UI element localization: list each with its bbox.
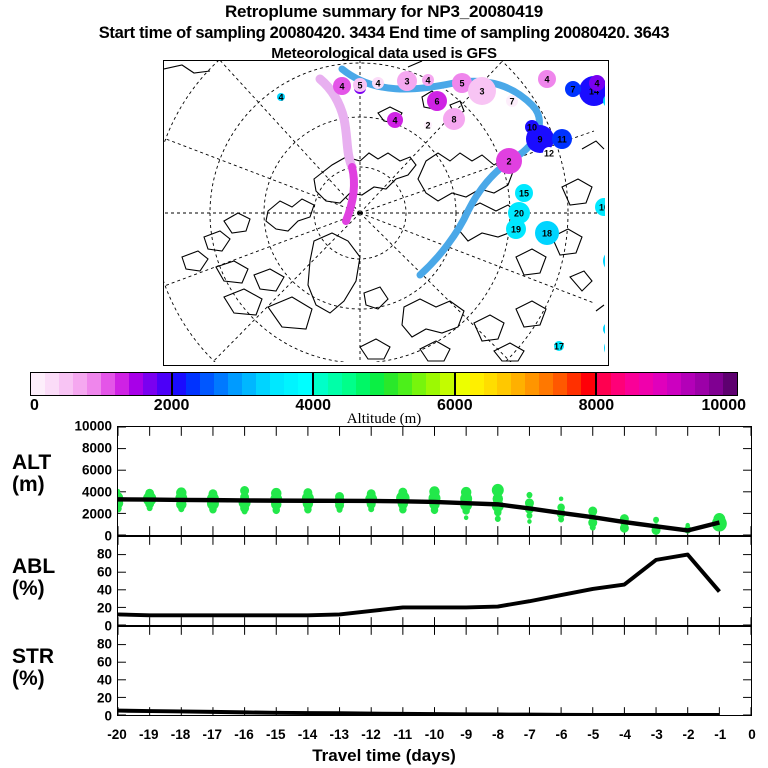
alt-scatter-point: [653, 517, 659, 523]
plume-marker-label: 5: [357, 80, 362, 90]
colorbar-swatch: [567, 373, 581, 395]
alt-scatter-point: [273, 506, 280, 514]
alt-scatter-point: [590, 524, 596, 530]
colorbar-swatch: [709, 373, 723, 395]
colorbar-swatch: [173, 373, 187, 395]
plume-marker-label: 7: [570, 84, 575, 94]
y-tick-label: 10000: [52, 419, 112, 434]
y-tick-label: 4000: [52, 485, 112, 500]
x-tick-label: -5: [587, 727, 599, 742]
abl-plot: [118, 537, 751, 625]
plume-marker: [603, 250, 605, 272]
x-tick-label: -17: [202, 727, 222, 742]
y-tick-label: 20: [52, 601, 112, 616]
plume-marker-label: 2: [506, 156, 511, 166]
str-label-line1: STR: [12, 646, 54, 668]
colorbar-swatch: [284, 373, 298, 395]
x-tick-label: -10: [425, 727, 445, 742]
plume-marker-label: 4: [392, 115, 397, 125]
altitude-colorbar: [30, 372, 738, 396]
colorbar-swatch: [625, 373, 639, 395]
x-tick-label: -14: [298, 727, 318, 742]
colorbar-swatch: [298, 373, 312, 395]
str-xticks: [118, 627, 751, 715]
colorbar-swatch: [695, 373, 709, 395]
colorbar-swatch: [186, 373, 200, 395]
colorbar-swatch: [398, 373, 412, 395]
colorbar-swatch: [667, 373, 681, 395]
sampling-times-line: Start time of sampling 20080420. 3434 En…: [0, 24, 768, 43]
alt-scatter-point: [558, 516, 564, 522]
retroplume-map: 4345454367448241474101762015101179121691…: [163, 60, 609, 366]
x-tick-label: -15: [266, 727, 286, 742]
y-tick-label: 40: [52, 673, 112, 688]
x-tick-label: -12: [361, 727, 381, 742]
colorbar-swatch: [256, 373, 270, 395]
y-tick-label: 8000: [52, 441, 112, 456]
alt-scatter-point: [178, 506, 184, 512]
alt-scatter-point: [464, 515, 468, 520]
y-tick-label: 6000: [52, 463, 112, 478]
alt-scatter-point: [399, 506, 406, 514]
abl-line: [118, 555, 719, 616]
plume-marker-label: 3: [479, 86, 484, 96]
colorbar-swatch: [45, 373, 59, 395]
abl-panel-label: ABL (%): [12, 556, 55, 600]
plume-marker-label: 12: [544, 148, 554, 158]
colorbar-swatch: [456, 373, 470, 395]
colorbar-swatch: [412, 373, 426, 395]
alt-scatter-point: [209, 506, 216, 514]
plume-marker-label: 10: [527, 122, 537, 132]
colorbar-swatch: [143, 373, 157, 395]
colorbar-swatch: [228, 373, 242, 395]
altitude-plot: [118, 427, 751, 535]
str-line: [118, 711, 719, 715]
plume-marker-label: 9: [537, 134, 542, 144]
alt-scatter-point: [526, 492, 532, 498]
x-tick-label: -9: [460, 727, 472, 742]
y-tick-label: 40: [52, 583, 112, 598]
colorbar-swatch: [639, 373, 653, 395]
plume-marker-label: 10: [599, 202, 605, 212]
plume-marker-layer: 4345454367448241474101762015101179121691…: [277, 70, 605, 362]
colorbar-swatch: [440, 373, 454, 395]
xaxis-title: Travel time (days): [0, 746, 768, 766]
alt-scatter-point: [526, 512, 532, 518]
colorbar-swatch: [597, 373, 611, 395]
plume-marker-label: 2: [425, 120, 430, 130]
plume-marker-label: 4: [425, 75, 430, 85]
plume-marker-label: 5: [459, 78, 464, 88]
alt-scatter-point: [527, 519, 531, 524]
str-yticks: [118, 645, 751, 715]
x-tick-label: -11: [393, 727, 412, 742]
colorbar-swatch: [470, 373, 484, 395]
alt-scatter-point: [304, 506, 311, 514]
plume-marker-label: 8: [451, 114, 456, 124]
colorbar-swatch: [681, 373, 695, 395]
abl-xticks: [118, 537, 751, 625]
str-panel-label: STR (%): [12, 646, 54, 690]
colorbar-swatch: [115, 373, 129, 395]
x-tick-label: -18: [171, 727, 191, 742]
colorbar-swatch: [525, 373, 539, 395]
colorbar-swatch: [73, 373, 87, 395]
colorbar-swatch: [723, 373, 737, 395]
colorbar-swatch: [328, 373, 342, 395]
y-tick-label: 60: [52, 655, 112, 670]
plume-marker-label: 3: [404, 76, 409, 86]
x-tick-label: -13: [329, 727, 349, 742]
colorbar-swatch: [157, 373, 171, 395]
colorbar-swatch: [31, 373, 45, 395]
alt-scatter: [118, 484, 727, 535]
plume-marker-label: 11: [557, 134, 567, 144]
y-tick-label: 80: [52, 547, 112, 562]
alt-scatter-point: [337, 506, 343, 512]
coastline-layer: [164, 61, 604, 361]
colorbar-swatch: [242, 373, 256, 395]
plume-marker-label: 20: [514, 208, 524, 218]
x-tick-label: 0: [748, 727, 756, 742]
alt-scatter-point: [147, 505, 153, 511]
colorbar-swatch: [101, 373, 115, 395]
alt-scatter-point: [494, 508, 501, 516]
x-tick-label: -20: [107, 727, 127, 742]
abl-label-line2: (%): [12, 578, 55, 600]
alt-label-line1: ALT: [12, 452, 51, 474]
abl-panel: [117, 536, 752, 626]
altitude-panel: [117, 426, 752, 536]
colorbar-swatch: [539, 373, 553, 395]
y-tick-label: 2000: [52, 507, 112, 522]
colorbar-swatch: [214, 373, 228, 395]
x-tick-label: -4: [619, 727, 631, 742]
alt-label-line2: (m): [12, 474, 51, 496]
graticule-layer: [164, 61, 604, 362]
alt-scatter-point: [368, 506, 374, 512]
abl-label-line1: ABL: [12, 556, 55, 578]
plume-marker-label: 15: [519, 188, 529, 198]
alt-scatter-point: [462, 507, 469, 515]
x-tick-label: -8: [492, 727, 504, 742]
y-tick-label: 20: [52, 691, 112, 706]
colorbar-swatch: [370, 373, 384, 395]
colorbar-swatch: [553, 373, 567, 395]
colorbar-swatch: [129, 373, 143, 395]
x-tick-label: -16: [234, 727, 254, 742]
plume-marker-label: 18: [542, 228, 552, 238]
plume-marker-label: 4: [278, 92, 283, 102]
plume-marker-label: 6: [434, 96, 439, 106]
x-tick-label: -2: [682, 727, 694, 742]
colorbar-swatch: [611, 373, 625, 395]
colorbar-swatch: [511, 373, 525, 395]
x-tick-label: -3: [651, 727, 663, 742]
x-tick-label: -19: [139, 727, 159, 742]
colorbar-swatch: [384, 373, 398, 395]
colorbar-swatch: [87, 373, 101, 395]
page-title: Retroplume summary for NP3_20080419: [0, 2, 768, 22]
alt-scatter-point: [559, 496, 563, 501]
alt-scatter-point: [495, 516, 501, 522]
y-tick-label: 0: [52, 619, 112, 634]
str-label-line2: (%): [12, 668, 54, 690]
plume-marker-label: 4: [339, 81, 344, 91]
colorbar-swatch: [581, 373, 595, 395]
y-tick-label: 0: [52, 529, 112, 544]
colorbar-swatch: [653, 373, 667, 395]
plume-marker-label: 4: [544, 74, 549, 84]
x-tick-label: -1: [714, 727, 726, 742]
plume-marker-label: 4: [594, 78, 599, 88]
y-tick-label: 80: [52, 637, 112, 652]
colorbar-swatch: [426, 373, 440, 395]
colorbar-swatch: [356, 373, 370, 395]
colorbar-swatch: [314, 373, 328, 395]
y-tick-label: 60: [52, 565, 112, 580]
plume-marker-label: 19: [511, 224, 521, 234]
plume-marker-label: 4: [375, 78, 380, 88]
str-plot: [118, 627, 751, 715]
colorbar-swatch: [497, 373, 511, 395]
colorbar-swatch: [484, 373, 498, 395]
plume-marker-label: 17: [554, 341, 564, 351]
colorbar-swatch: [270, 373, 284, 395]
map-canvas: 4345454367448241474101762015101179121691…: [164, 61, 605, 362]
colorbar-swatch: [200, 373, 214, 395]
plume-marker-label: 7: [509, 96, 514, 106]
str-panel: [117, 626, 752, 716]
alt-panel-label: ALT (m): [12, 452, 51, 496]
alt-scatter-point: [242, 508, 248, 514]
alt-scatter-point: [431, 506, 438, 514]
x-tick-label: -6: [555, 727, 567, 742]
colorbar-swatch: [342, 373, 356, 395]
plume-marker: [604, 338, 605, 358]
y-tick-label: 0: [52, 709, 112, 724]
x-tick-label: -7: [524, 727, 536, 742]
colorbar-swatch: [59, 373, 73, 395]
